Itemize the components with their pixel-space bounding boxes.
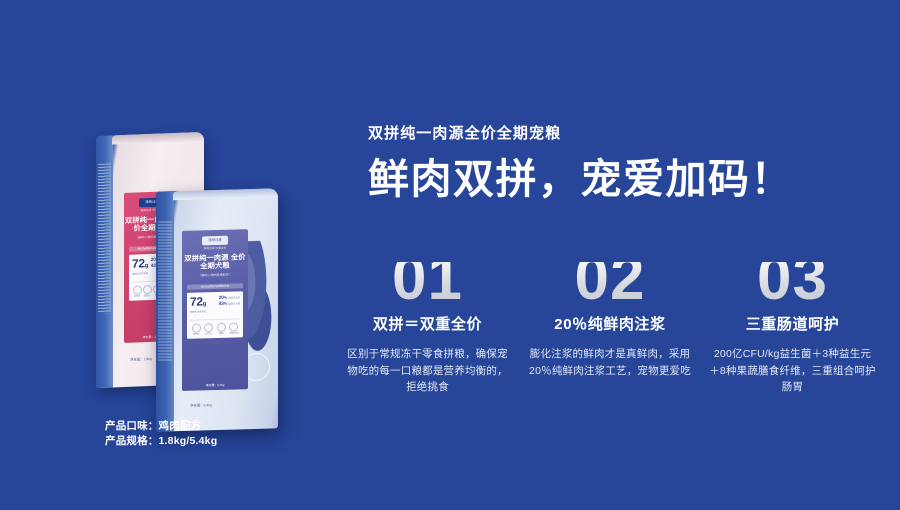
bag-top-seal: [173, 188, 278, 200]
fiber-icon: [229, 322, 238, 331]
fruit-veg-icon: [217, 322, 226, 331]
product-flavor-line: 产品口味：鸡肉配方: [105, 419, 217, 434]
feature-number: 03: [705, 262, 880, 310]
grams-caption: 纯鲜肉注浆添加: [190, 311, 206, 314]
feature-heading: 双拼＝双重全价: [340, 315, 515, 335]
label-net-weight: 净含量：5.4kg: [182, 382, 248, 388]
brand-logo: 派特汪星: [202, 236, 228, 246]
bag-side-gusset: [156, 191, 174, 432]
feature-number-badge: 03: [705, 262, 880, 310]
ingredient-icon-0: 益生菌: [190, 323, 202, 336]
label-product-title: 双拼纯一肉源 全价全期犬粮: [182, 253, 248, 272]
headline-block: 双拼纯一肉源全价全期宠粮 鲜肉双拼，宠爱加码！: [368, 124, 868, 202]
ingredient-icon-0: 益生菌: [132, 285, 142, 298]
ingredient-icon-row: 益生菌 益生元 果蔬 膳食纤维: [190, 318, 240, 336]
bag-side-text-lines: [158, 221, 172, 361]
feature-number: 01: [340, 262, 515, 310]
feature-columns: 01 双拼＝双重全价 区别于常规冻干零食拼粮，确保宠物吃的每一口粮都是营养均衡的…: [340, 262, 880, 396]
bag-net-weight: 净含量：1.8kg: [130, 357, 152, 363]
feature-column-2: 02 20％纯鲜肉注浆 膨化注浆的鲜肉才是真鲜肉，采用20％纯鲜肉注浆工艺，宠物…: [523, 262, 698, 396]
probiotic-icon: [133, 285, 142, 294]
product-photo: 派特汪星 鲜肉双拼 双重全价 双拼纯一肉源 全价全期猫粮 （鲜肉＋鲜肉双拼配方）…: [60, 120, 320, 420]
ingredient-icon-3: 膳食纤维: [228, 322, 240, 335]
probiotic-icon: [192, 323, 201, 332]
bag-side-gusset: [96, 135, 113, 388]
bag-front-label: 派特汪星 鲜肉双拼 双重全价 双拼纯一肉源 全价全期犬粮 （鲜肉＋鲜肉双拼配方）…: [182, 229, 248, 391]
grams-caption: 纯鲜肉注浆添加: [132, 273, 148, 277]
eyebrow-text: 双拼纯一肉源全价全期宠粮: [368, 124, 868, 144]
label-claim-strip: 每100g添加20g纯鲜肉注浆: [187, 283, 243, 290]
feature-number-badge: 01: [340, 262, 515, 310]
prebiotic-icon: [204, 323, 213, 332]
feature-body: 膨化注浆的鲜肉才是真鲜肉，采用20％纯鲜肉注浆工艺，宠物更爱吃: [523, 346, 698, 379]
feature-heading: 三重肠道呵护: [705, 315, 880, 335]
label-subtitle: 鲜肉双拼 双重全价: [182, 246, 248, 252]
feature-body: 区别于常规冻干零食拼粮，确保宠物吃的每一口粮都是营养均衡的，拒绝挑食: [340, 346, 515, 396]
pet-food-bag-front: 派特汪星 鲜肉双拼 双重全价 双拼纯一肉源 全价全期犬粮 （鲜肉＋鲜肉双拼配方）…: [156, 188, 278, 431]
promo-banner: 派特汪星 鲜肉双拼 双重全价 双拼纯一肉源 全价全期猫粮 （鲜肉＋鲜肉双拼配方）…: [0, 0, 900, 510]
grams-figure: 72g 纯鲜肉注浆添加: [132, 257, 148, 277]
bag-net-weight: 净含量：5.4kg: [190, 403, 212, 409]
grams-figure: 72g 纯鲜肉注浆添加: [190, 295, 206, 314]
ingredient-icon-2: 果蔬: [215, 322, 227, 335]
product-size-line: 产品规格：1.8kg/5.4kg: [105, 434, 217, 449]
feature-body: 200亿CFU/kg益生菌＋3种益生元＋8种果蔬膳食纤维，三重组合呵护肠胃: [705, 346, 880, 396]
page-title: 鲜肉双拼，宠爱加码！: [368, 156, 868, 202]
label-spec-box: 72g 纯鲜肉注浆添加 20% 纯鲜肉注浆 43% 粗蛋白含量: [187, 291, 243, 339]
product-spec-caption: 产品口味：鸡肉配方 产品规格：1.8kg/5.4kg: [105, 419, 217, 449]
ingredient-icon-1: 益生元: [142, 284, 152, 297]
percent-row-2: 43% 粗蛋白含量: [219, 301, 240, 308]
percent-list: 20% 纯鲜肉注浆 43% 粗蛋白含量: [219, 294, 240, 307]
feature-number: 02: [523, 262, 698, 310]
feature-column-3: 03 三重肠道呵护 200亿CFU/kg益生菌＋3种益生元＋8种果蔬膳食纤维，三…: [705, 262, 880, 396]
prebiotic-icon: [143, 284, 152, 293]
bag-side-text-lines: [98, 163, 111, 313]
bag-top-seal: [112, 132, 204, 145]
label-formula-tag: （鲜肉＋鲜肉双拼配方）: [182, 272, 248, 278]
feature-heading: 20％纯鲜肉注浆: [523, 315, 698, 335]
feature-column-1: 01 双拼＝双重全价 区别于常规冻干零食拼粮，确保宠物吃的每一口粮都是营养均衡的…: [340, 262, 515, 396]
ingredient-icon-1: 益生元: [203, 323, 215, 336]
feature-number-badge: 02: [523, 262, 698, 310]
